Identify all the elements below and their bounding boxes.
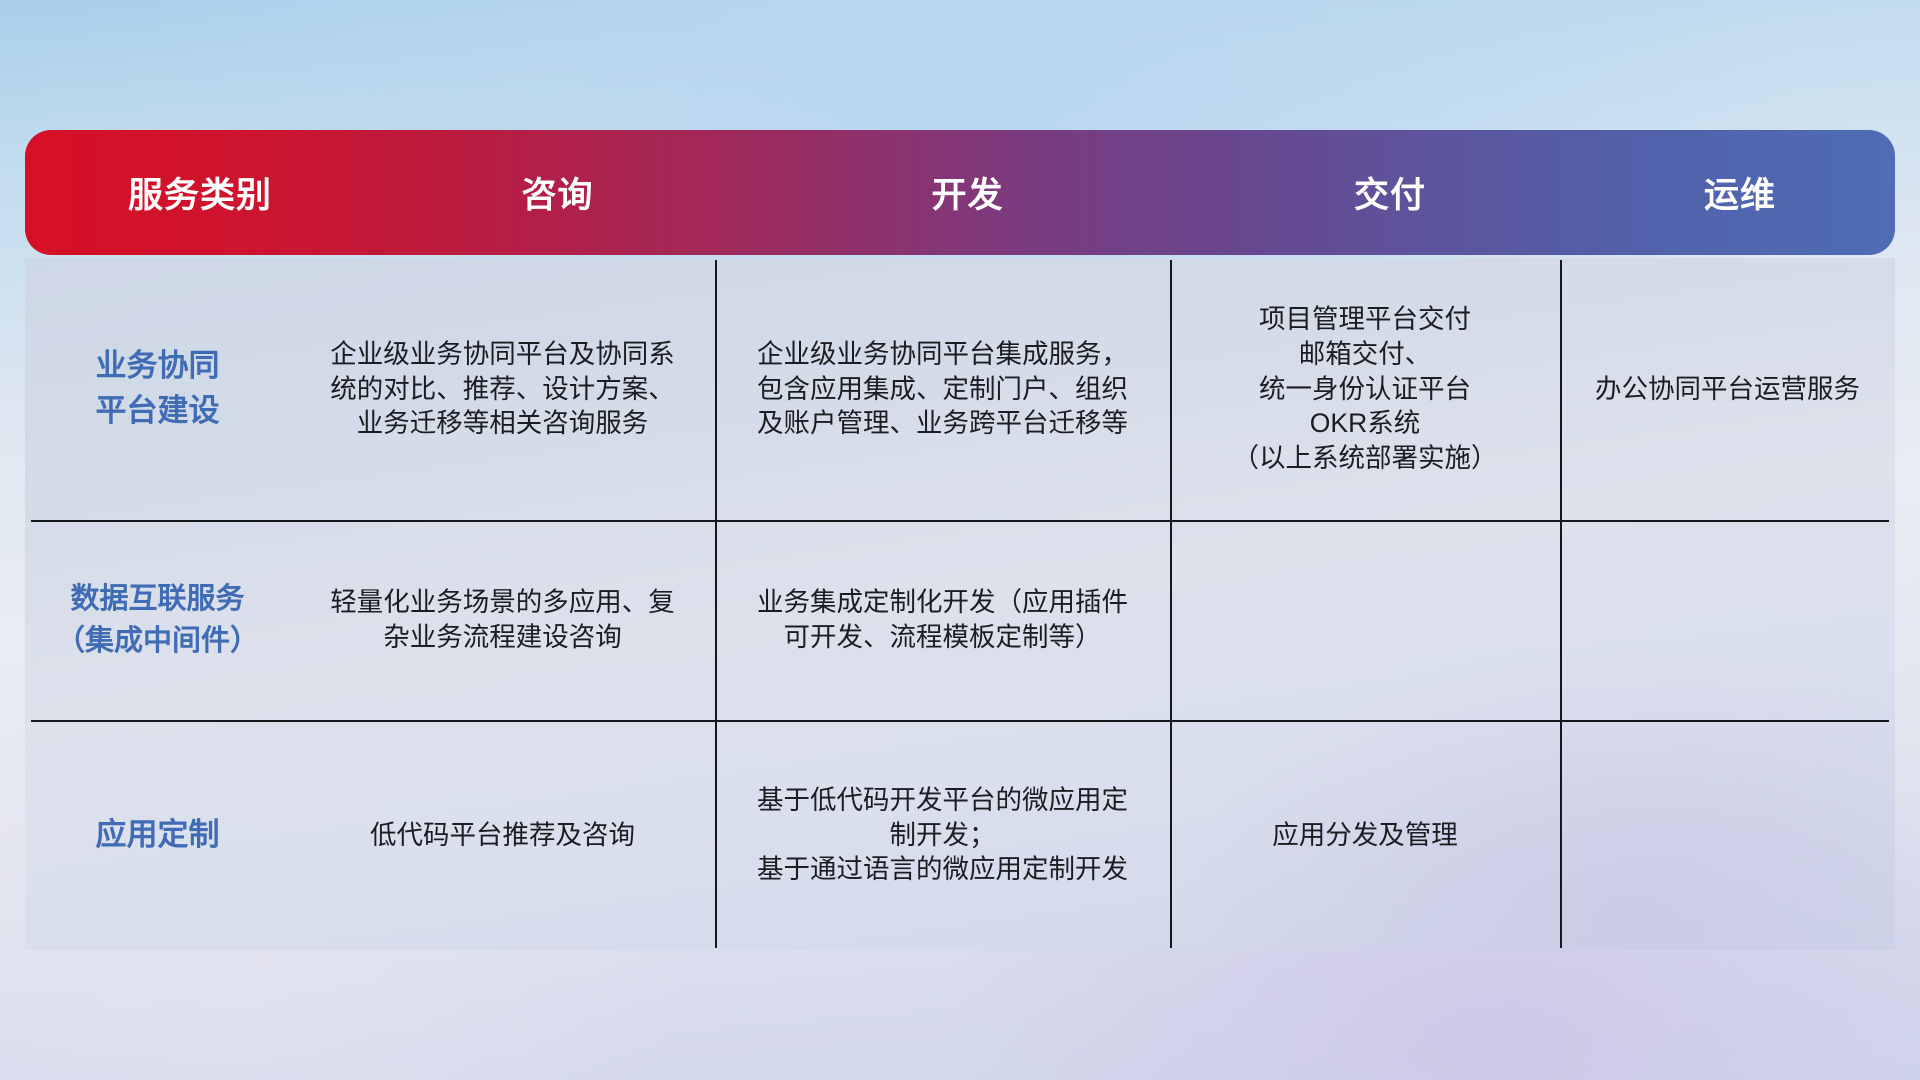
cell-operations	[1560, 720, 1895, 950]
row-label-cell: 应用定制	[25, 720, 290, 950]
table-row: 数据互联服务 （集成中间件） 轻量化业务场景的多应用、复 杂业务流程建设咨询 业…	[25, 520, 1895, 720]
cell-delivery: 应用分发及管理	[1170, 720, 1560, 950]
cell-delivery: 项目管理平台交付 邮箱交付、 统一身份认证平台 OKR系统 （以上系统部署实施）	[1170, 258, 1560, 520]
row-label: 数据互联服务 （集成中间件）	[56, 578, 259, 662]
cell-development: 企业级业务协同平台集成服务， 包含应用集成、定制门户、组织 及账户管理、业务跨平…	[715, 258, 1170, 520]
cell-consulting: 低代码平台推荐及咨询	[290, 720, 715, 950]
table-row: 业务协同 平台建设 企业级业务协同平台及协同系 统的对比、推荐、设计方案、 业务…	[25, 258, 1895, 520]
table-body: 业务协同 平台建设 企业级业务协同平台及协同系 统的对比、推荐、设计方案、 业务…	[25, 258, 1895, 950]
column-header-operations: 运维	[1585, 172, 1895, 213]
column-header-category: 服务类别	[25, 172, 375, 213]
cell-operations: 办公协同平台运营服务	[1560, 258, 1895, 520]
cell-consulting: 企业级业务协同平台及协同系 统的对比、推荐、设计方案、 业务迁移等相关咨询服务	[290, 258, 715, 520]
service-matrix-table: 服务类别 咨询 开发 交付 运维 业务协同 平台建设 企业级业务协同平台及协同系…	[25, 130, 1895, 950]
table-header-row: 服务类别 咨询 开发 交付 运维	[25, 130, 1895, 255]
row-label: 业务协同 平台建设	[96, 344, 220, 434]
cell-development: 业务集成定制化开发（应用插件 可开发、流程模板定制等）	[715, 520, 1170, 720]
column-header-delivery: 交付	[1195, 172, 1585, 213]
cell-consulting: 轻量化业务场景的多应用、复 杂业务流程建设咨询	[290, 520, 715, 720]
column-header-development: 开发	[740, 172, 1195, 213]
row-label-cell: 数据互联服务 （集成中间件）	[25, 520, 290, 720]
cell-development: 基于低代码开发平台的微应用定 制开发； 基于通过语言的微应用定制开发	[715, 720, 1170, 950]
column-header-consulting: 咨询	[375, 172, 740, 213]
cell-operations	[1560, 520, 1895, 720]
cell-delivery	[1170, 520, 1560, 720]
row-label-cell: 业务协同 平台建设	[25, 258, 290, 520]
row-label: 应用定制	[96, 813, 220, 858]
table-row: 应用定制 低代码平台推荐及咨询 基于低代码开发平台的微应用定 制开发； 基于通过…	[25, 720, 1895, 950]
